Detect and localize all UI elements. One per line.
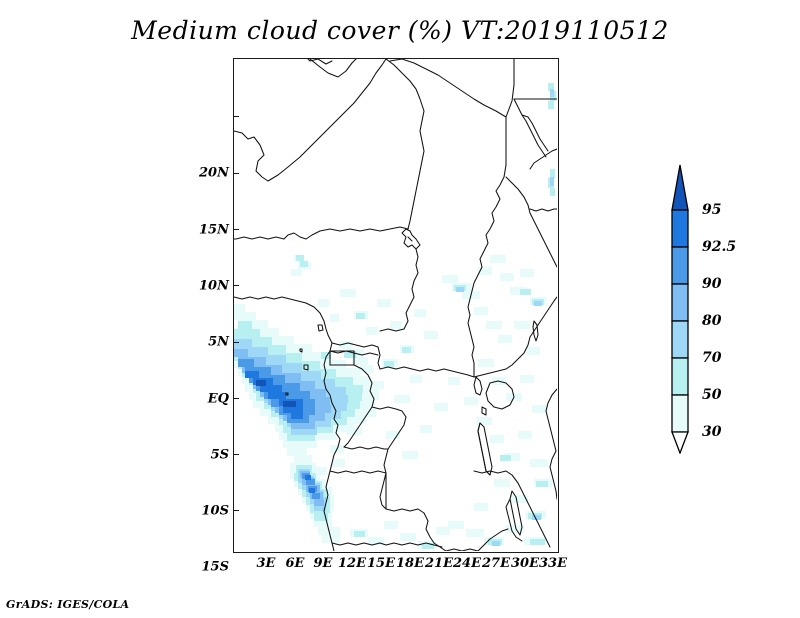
tick-mark	[234, 398, 239, 399]
tick-mark	[234, 342, 239, 343]
x-tick-label: 6E	[286, 556, 305, 571]
colorbar-tick-label: 50	[702, 387, 721, 403]
colorbar-segment-30-50	[672, 395, 688, 432]
y-tick-label: 20N	[183, 166, 229, 181]
colorbar-tick-label: 80	[702, 313, 721, 329]
grads-credit: GrADS: IGES/COLA	[6, 598, 129, 611]
colorbar[interactable]: 95 92.5 90 80 70 50 30	[666, 164, 796, 454]
y-tick-label: 10N	[183, 279, 229, 294]
x-tick-label: 3E	[257, 556, 276, 571]
colorbar-segment-90-92.5	[672, 247, 688, 284]
colorbar-segment-50-70	[672, 358, 688, 395]
x-axis: 3E 6E 9E 12E 15E 18E 21E 24E 27E 30E 33E	[233, 556, 559, 576]
colorbar-tick-label: 90	[702, 276, 721, 292]
colorbar-tick-label: 92.5	[702, 239, 736, 255]
x-tick-label: 15E	[367, 556, 395, 571]
tick-mark	[234, 229, 239, 230]
y-tick-label: 15N	[183, 223, 229, 238]
tick-mark	[234, 285, 239, 286]
colorbar-extend-bottom	[672, 432, 688, 453]
colorbar-tick-label: 70	[702, 350, 721, 366]
tick-mark	[234, 173, 239, 174]
y-tick-label: 5N	[183, 335, 229, 350]
map-canvas	[234, 59, 557, 551]
y-axis: 20N 15N 10N 5N EQ 5S 10S 15S	[179, 58, 229, 553]
colorbar-tick-label: 30	[702, 424, 721, 440]
tick-mark	[234, 454, 239, 455]
y-tick-label: 10S	[183, 504, 229, 519]
tick-mark	[234, 510, 239, 511]
page-title: Medium cloud cover (%) VT:2019110512	[0, 16, 800, 45]
tick-mark	[234, 116, 239, 117]
x-tick-label: 33E	[539, 556, 567, 571]
map-boundaries	[234, 59, 557, 551]
colorbar-extend-top	[672, 165, 688, 210]
x-tick-label: 27E	[482, 556, 510, 571]
colorbar-tick-label: 95	[702, 202, 721, 218]
cloud-cover-shading	[234, 83, 556, 549]
x-tick-label: 9E	[314, 556, 333, 571]
y-tick-label: 5S	[183, 448, 229, 463]
colorbar-segment-92.5-95	[672, 210, 688, 247]
x-tick-label: 30E	[511, 556, 539, 571]
y-tick-label: 15S	[183, 560, 229, 575]
map-plot-area[interactable]	[233, 58, 559, 553]
colorbar-segment-70-80	[672, 321, 688, 358]
x-tick-label: 18E	[396, 556, 424, 571]
y-tick-label: EQ	[183, 392, 229, 407]
x-tick-label: 21E	[425, 556, 453, 571]
colorbar-segment-80-90	[672, 284, 688, 321]
x-tick-label: 24E	[453, 556, 481, 571]
x-tick-label: 12E	[338, 556, 366, 571]
